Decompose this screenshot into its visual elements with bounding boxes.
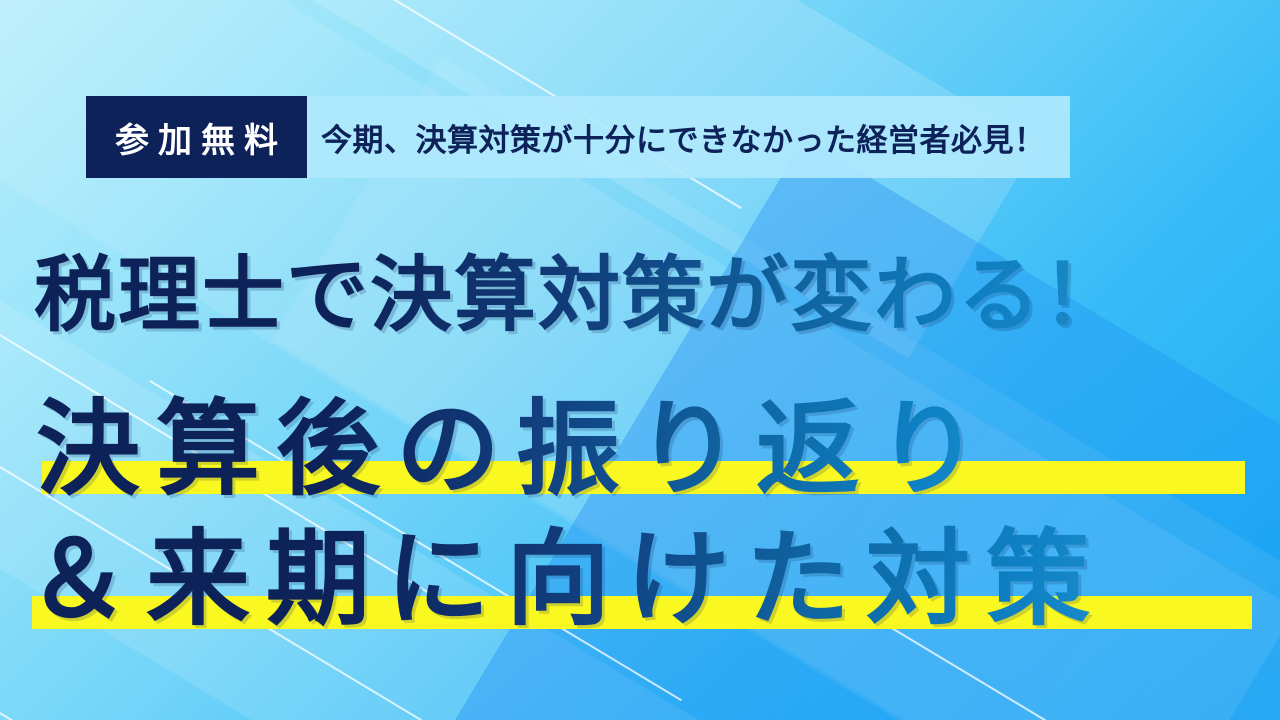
banner-canvas: 参加無料 今期、決算対策が十分にできなかった経営者必見！ 税理士で決算対策が変わ… [0,0,1280,720]
free-admission-badge: 参加無料 [86,96,307,178]
subline-2: ＆来期に向けた対策 [26,494,1106,645]
kicker-text: 今期、決算対策が十分にできなかった経営者必見！ [321,115,1046,160]
kicker-row: 参加無料 今期、決算対策が十分にできなかった経営者必見！ [86,96,1070,178]
kicker-panel: 今期、決算対策が十分にできなかった経営者必見！ [307,96,1070,178]
page-title: 税理士で決算対策が変わる！ [34,228,1126,347]
subline-1: 決算後の振り返り [36,364,996,515]
